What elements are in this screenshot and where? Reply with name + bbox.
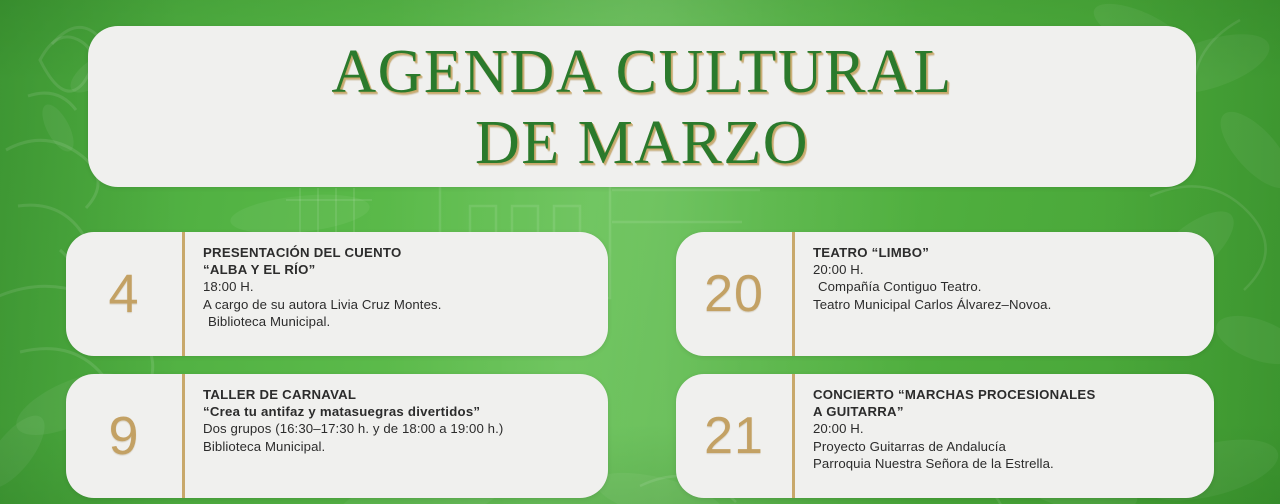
event-line: Teatro Municipal Carlos Álvarez–Novoa. [813, 296, 1200, 313]
poster-title-line-1: AGENDA CULTURAL [331, 39, 952, 105]
event-line: Dos grupos (16:30–17:30 h. y de 18:00 a … [203, 420, 594, 437]
event-details: PRESENTACIÓN DEL CUENTO “ALBA Y EL RÍO” … [185, 232, 608, 356]
event-line: Compañía Contiguo Teatro. [813, 278, 1200, 295]
event-line: A GUITARRA” [813, 403, 1200, 420]
event-line: “Crea tu antifaz y matasuegras divertido… [203, 403, 594, 420]
poster-title-line-2: DE MARZO [475, 110, 809, 176]
event-details: TEATRO “LIMBO” 20:00 H. Compañía Contigu… [795, 232, 1214, 356]
event-line: Biblioteca Municipal. [203, 313, 594, 330]
event-line: Proyecto Guitarras de Andalucía [813, 438, 1200, 455]
event-day-number: 4 [108, 267, 139, 321]
event-line: 20:00 H. [813, 261, 1200, 278]
event-day-box: 21 [676, 374, 792, 498]
event-line: 20:00 H. [813, 420, 1200, 437]
event-line: 18:00 H. [203, 278, 594, 295]
event-card[interactable]: 4 PRESENTACIÓN DEL CUENTO “ALBA Y EL RÍO… [66, 232, 608, 356]
event-details: TALLER DE CARNAVAL “Crea tu antifaz y ma… [185, 374, 608, 498]
event-day-box: 9 [66, 374, 182, 498]
event-line: TALLER DE CARNAVAL [203, 386, 594, 403]
event-line: Biblioteca Municipal. [203, 438, 594, 455]
event-day-number: 20 [704, 268, 764, 320]
event-line: “ALBA Y EL RÍO” [203, 261, 594, 278]
event-card[interactable]: 9 TALLER DE CARNAVAL “Crea tu antifaz y … [66, 374, 608, 498]
event-day-box: 4 [66, 232, 182, 356]
event-line: CONCIERTO “MARCHAS PROCESIONALES [813, 386, 1200, 403]
event-day-number: 9 [108, 409, 139, 463]
event-line: PRESENTACIÓN DEL CUENTO [203, 244, 594, 261]
event-card[interactable]: 20 TEATRO “LIMBO” 20:00 H. Compañía Cont… [676, 232, 1214, 356]
event-line: A cargo de su autora Livia Cruz Montes. [203, 296, 594, 313]
poster-title-card: AGENDA CULTURAL DE MARZO [88, 26, 1196, 187]
event-line: TEATRO “LIMBO” [813, 244, 1200, 261]
event-line: Parroquia Nuestra Señora de la Estrella. [813, 455, 1200, 472]
event-card[interactable]: 21 CONCIERTO “MARCHAS PROCESIONALES A GU… [676, 374, 1214, 498]
agenda-poster: AGENDA CULTURAL DE MARZO 4 PRESENTACIÓN … [0, 0, 1280, 504]
event-details: CONCIERTO “MARCHAS PROCESIONALES A GUITA… [795, 374, 1214, 498]
event-day-box: 20 [676, 232, 792, 356]
event-day-number: 21 [704, 410, 764, 462]
